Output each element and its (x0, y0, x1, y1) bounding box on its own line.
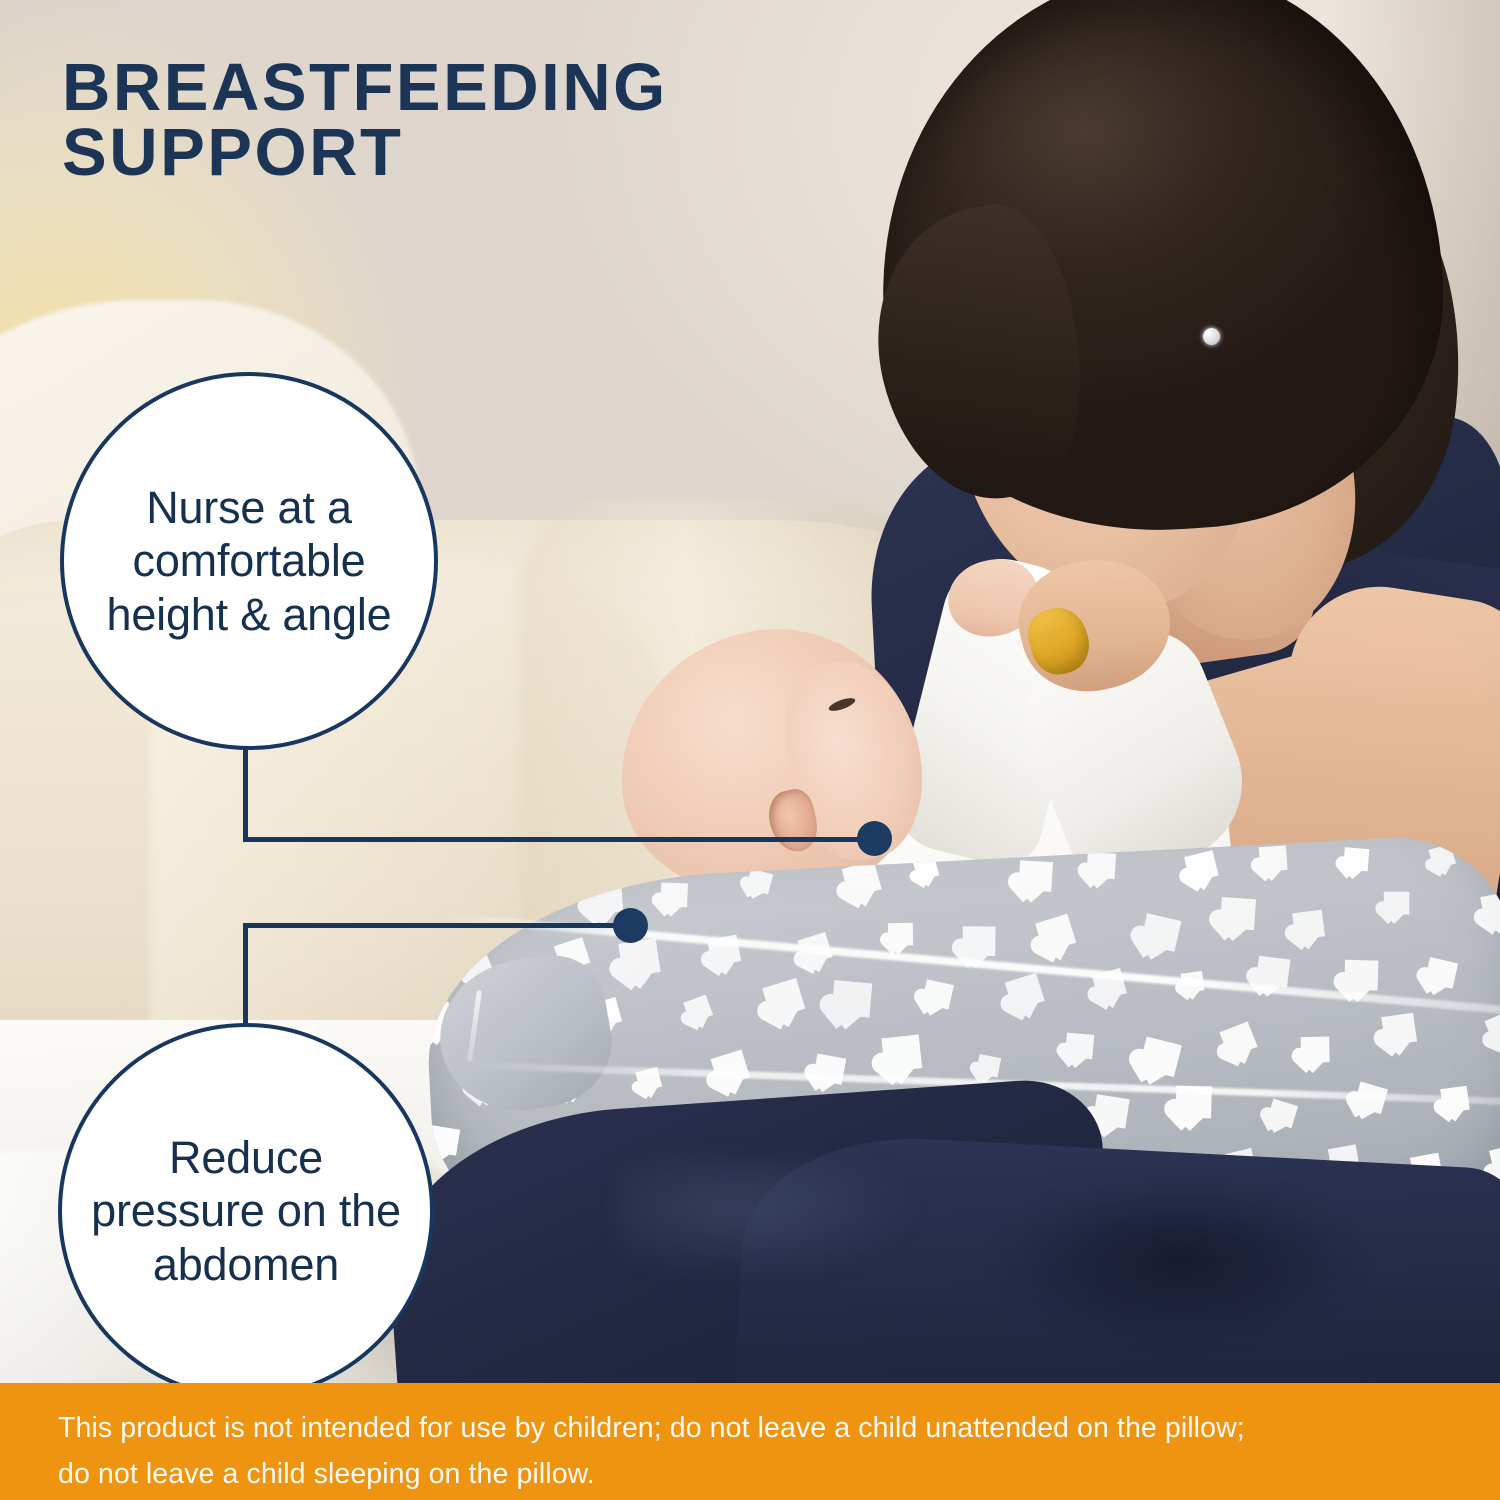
pillow-heart-icon (1087, 852, 1117, 879)
pillow-heart-icon (1065, 1033, 1094, 1060)
pillow-heart-icon (963, 926, 996, 956)
infographic-canvas: BREASTFEEDING SUPPORT Nurse at a comfort… (0, 0, 1500, 1500)
pillow-heart-icon (922, 979, 954, 1009)
pillow-heart-icon (1384, 892, 1410, 915)
pillow-heart-icon (619, 938, 661, 977)
pillow-heart-icon (428, 1125, 461, 1155)
callout-1-connector-horizontal (243, 837, 879, 842)
pillow-heart-icon (495, 887, 528, 917)
pillow-heart-icon (1258, 846, 1287, 872)
pillow-heart-icon (1344, 960, 1378, 991)
pillow-heart-icon (1035, 913, 1076, 952)
callout-comfort-height: Nurse at a comfortable height & angle (60, 372, 438, 750)
pillow-heart-icon (1381, 1013, 1417, 1046)
pillow-heart-icon (1344, 847, 1370, 871)
pillow-heart-icon (1184, 850, 1219, 882)
pillow-heart-icon (1256, 956, 1291, 988)
callout-1-anchor-dot (857, 821, 892, 856)
pillow-heart-icon (1424, 957, 1458, 989)
pillow-heart-icon (1220, 897, 1256, 930)
pillow-heart-icon (1480, 891, 1500, 924)
warning-line-2: do not leave a child sleeping on the pil… (58, 1451, 1442, 1497)
pillow-heart-icon (1484, 1010, 1500, 1046)
safety-warning-banner: This product is not intended for use by … (0, 1383, 1500, 1500)
pillow-heart-icon (1093, 1095, 1130, 1129)
pillow-heart-icon (1292, 910, 1325, 940)
pillow-heart-icon (1300, 1037, 1329, 1063)
knee-highlight (620, 1160, 920, 1280)
leg-shadow (1000, 1180, 1360, 1340)
pillow-heart-icon (684, 994, 714, 1023)
pillow-heart-icon (1005, 973, 1045, 1011)
callout-reduce-pressure: Reduce pressure on the abdomen (58, 1023, 434, 1399)
warning-line-1: This product is not intended for use by … (58, 1405, 1442, 1451)
callout-1-connector-vertical (243, 748, 248, 842)
pillow-heart-icon (746, 869, 773, 895)
page-title: BREASTFEEDING SUPPORT (62, 55, 882, 185)
pillow-heart-icon (660, 883, 688, 908)
callout-2-connector-horizontal (243, 923, 635, 928)
mother-earring (1203, 328, 1220, 345)
pillow-heart-icon (831, 980, 872, 1018)
pillow-heart-icon (976, 1054, 1001, 1078)
pillow-heart-icon (711, 1049, 751, 1087)
pillow-heart-icon (881, 1035, 922, 1073)
pillow-heart-icon (1429, 844, 1457, 870)
pillow-heart-icon (842, 861, 882, 899)
callout-2-anchor-dot (613, 908, 648, 943)
pillow-heart-icon (1138, 1036, 1181, 1077)
callout-1-label: Nurse at a comfortable height & angle (90, 481, 408, 640)
pillow-heart-icon (1140, 914, 1181, 953)
pillow-heart-icon (1220, 1022, 1258, 1059)
pillow-heart-icon (888, 923, 913, 946)
pillow-heart-icon (587, 881, 623, 914)
pillow-heart-icon (1267, 1098, 1298, 1128)
pillow-heart-icon (762, 978, 805, 1019)
callout-2-label: Reduce pressure on the abdomen (88, 1131, 404, 1290)
pillow-heart-icon (1018, 860, 1053, 892)
